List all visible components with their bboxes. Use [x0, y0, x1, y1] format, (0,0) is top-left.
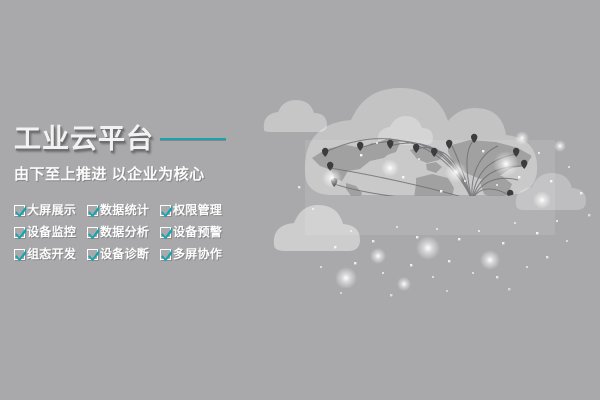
feature-item-daping-zhanshi[interactable]: 大屏展示	[14, 202, 87, 219]
feature-item-quanxian-guanli[interactable]: 权限管理	[160, 202, 233, 219]
feature-item-shebei-jiankong[interactable]: 设备监控	[14, 224, 87, 241]
page-subtitle: 由下至上推进 以企业为核心	[14, 165, 254, 185]
feature-label: 设备诊断	[100, 246, 149, 263]
feature-item-duoping-xiezuo[interactable]: 多屏协作	[160, 246, 233, 263]
feature-item-shebei-yujing[interactable]: 设备预警	[160, 224, 233, 241]
cloud-world-network-illustration	[250, 80, 600, 320]
title-underline-rule	[160, 138, 226, 140]
feature-item-shuju-fenxi[interactable]: 数据分析	[87, 224, 160, 241]
feature-row: 组态开发 设备诊断 多屏协作	[14, 246, 254, 263]
feature-row: 大屏展示 数据统计 权限管理	[14, 202, 254, 219]
check-box-icon	[160, 205, 171, 216]
feature-list: 大屏展示 数据统计 权限管理	[14, 202, 254, 263]
hero-text-block: 工业云平台 由下至上推进 以企业为核心 大屏展示 数据统计	[14, 122, 254, 263]
check-box-icon	[160, 227, 171, 238]
check-box-icon	[14, 249, 25, 260]
page-title: 工业云平台	[14, 124, 154, 154]
feature-label: 数据分析	[100, 224, 149, 241]
check-box-icon	[160, 249, 171, 260]
feature-item-shebei-zhenduan[interactable]: 设备诊断	[87, 246, 160, 263]
check-box-icon	[14, 227, 25, 238]
feature-label: 设备预警	[173, 224, 222, 241]
feature-label: 多屏协作	[173, 246, 222, 263]
check-box-icon	[87, 205, 98, 216]
feature-label: 大屏展示	[27, 202, 76, 219]
hero-banner: 工业云平台 由下至上推进 以企业为核心 大屏展示 数据统计	[0, 0, 600, 400]
feature-label: 设备监控	[27, 224, 76, 241]
check-box-icon	[87, 227, 98, 238]
check-box-icon	[87, 249, 98, 260]
feature-row: 设备监控 数据分析 设备预警	[14, 224, 254, 241]
feature-label: 权限管理	[173, 202, 222, 219]
title-row: 工业云平台	[14, 122, 254, 156]
feature-label: 组态开发	[27, 246, 76, 263]
small-cloud-top-left	[264, 100, 327, 132]
feature-item-zutai-kaifa[interactable]: 组态开发	[14, 246, 87, 263]
feature-label: 数据统计	[100, 202, 149, 219]
check-box-icon	[14, 205, 25, 216]
feature-item-shuju-tongji[interactable]: 数据统计	[87, 202, 160, 219]
